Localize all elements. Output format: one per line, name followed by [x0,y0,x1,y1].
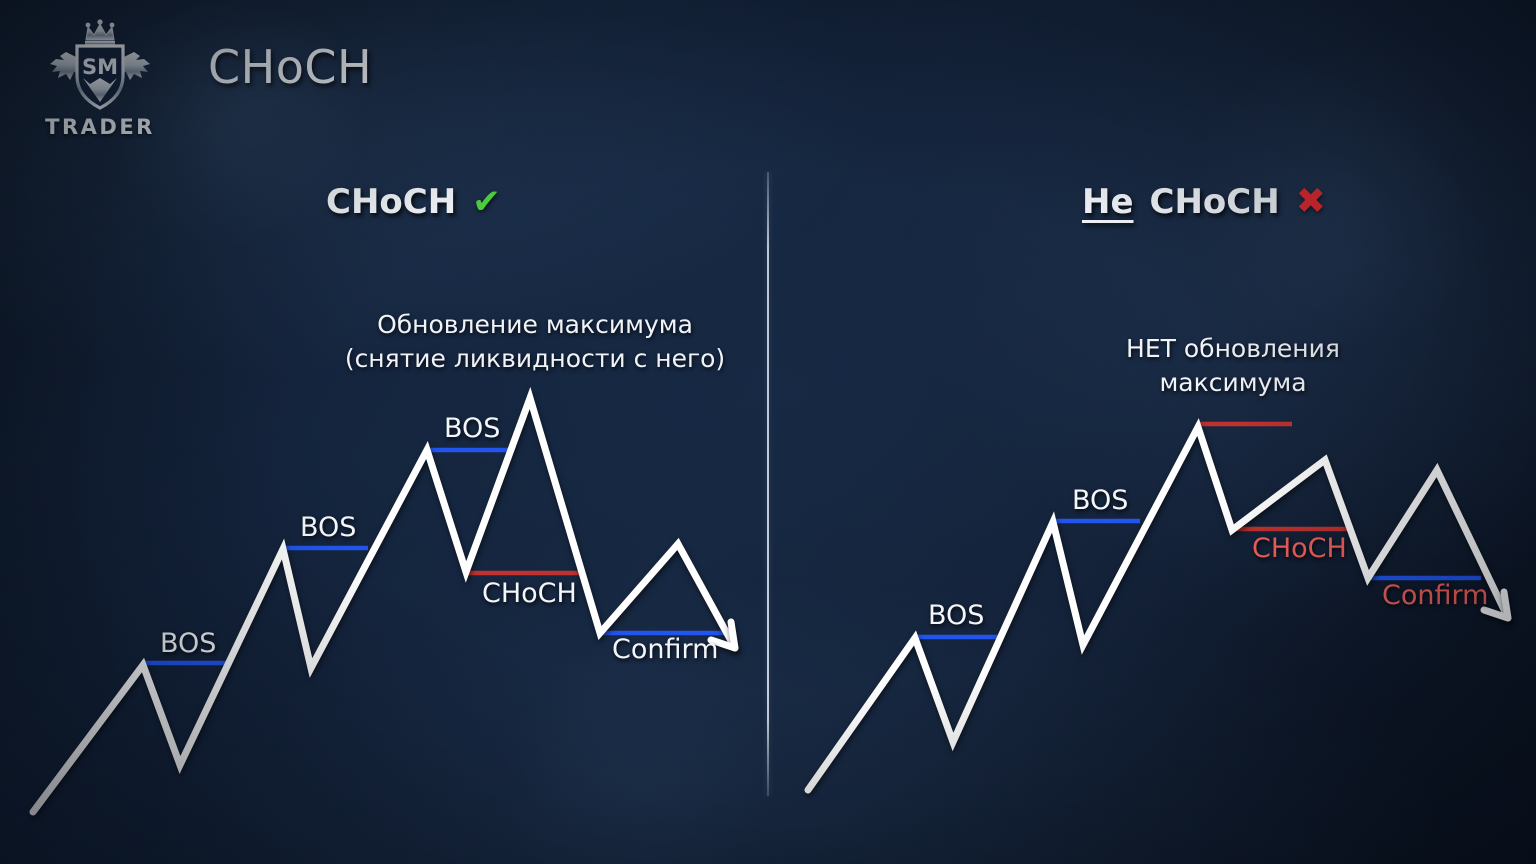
slide-root: SM TRADER CHoCH CHoCH ✔ Не CHoCH ✖ Обнов… [0,0,1536,864]
price-polyline [33,398,735,812]
bos-label: BOS [1072,485,1128,516]
bos-label: BOS [300,512,356,543]
choch-label: CHoCH [482,578,577,609]
bos-label: BOS [928,600,984,631]
confirm-label: Confirm [612,634,718,665]
bos-label: BOS [160,628,216,659]
price-action-charts [0,0,1536,864]
confirm-label: Confirm [1382,580,1488,611]
bos-label: BOS [444,413,500,444]
choch-label: CHoCH [1252,533,1347,564]
